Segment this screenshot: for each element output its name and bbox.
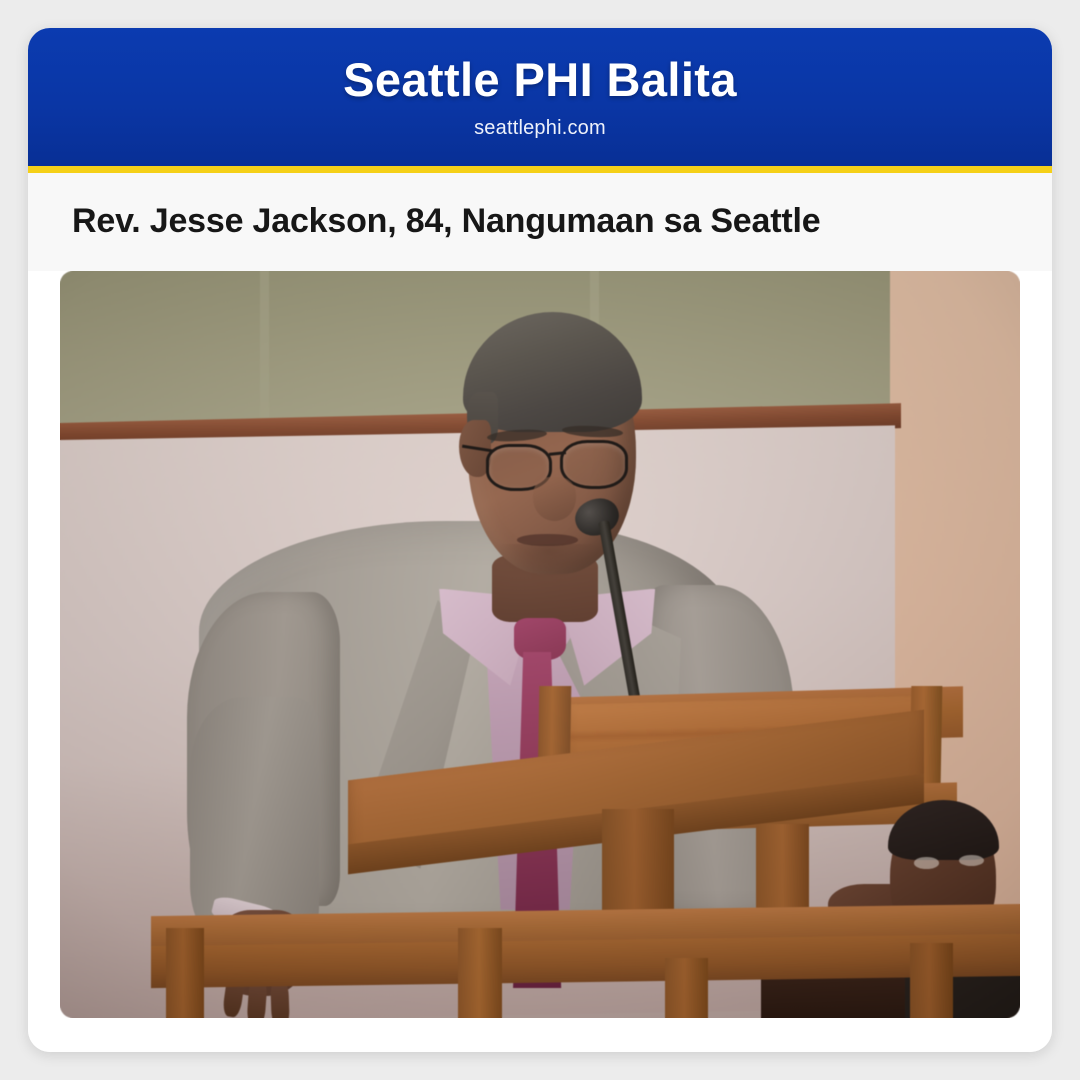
headline-band: Rev. Jesse Jackson, 84, Nangumaan sa Sea… (28, 173, 1052, 271)
accent-rule (28, 166, 1052, 173)
brand-url: seattlephi.com (474, 118, 606, 138)
second-person-eye-left (914, 857, 939, 868)
article-photo (60, 271, 1020, 1018)
brand-header: Seattle PHI Balita seattlephi.com (28, 28, 1052, 166)
brand-title: Seattle PHI Balita (343, 56, 737, 103)
bench-post (166, 928, 204, 1018)
nose (533, 477, 575, 522)
news-card: Seattle PHI Balita seattlephi.com Rev. J… (28, 28, 1052, 1052)
article-photo-frame (28, 271, 1052, 1052)
article-headline: Rev. Jesse Jackson, 84, Nangumaan sa Sea… (72, 201, 1008, 241)
chin-shadow (498, 544, 599, 578)
bench-post (910, 943, 953, 1018)
bench-post (665, 958, 708, 1018)
bench-post (458, 928, 501, 1018)
